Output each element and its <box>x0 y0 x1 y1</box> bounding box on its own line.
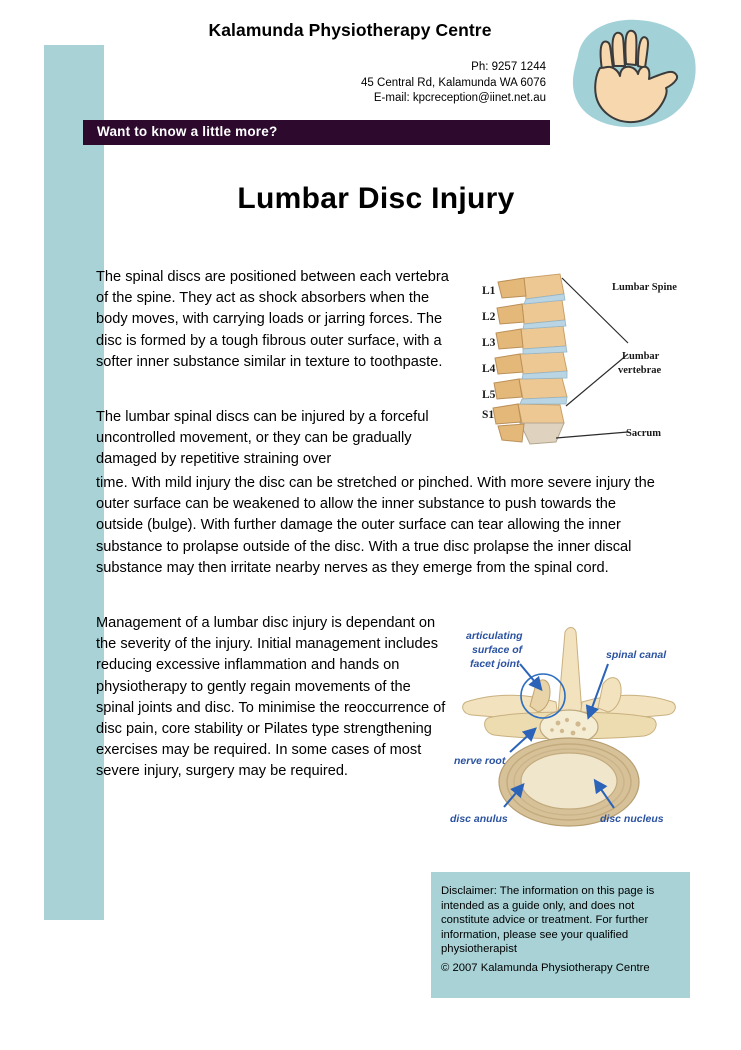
svg-text:Lumbar: Lumbar <box>622 351 660 362</box>
svg-text:Sacrum: Sacrum <box>626 428 661 439</box>
paragraph-injury-cont: time. With mild injury the disc can be s… <box>96 473 658 579</box>
vertebra-figure: articulating surface of facet joint spin… <box>448 622 690 830</box>
paragraph-management: Management of a lumbar disc injury is de… <box>96 613 448 783</box>
svg-text:L2: L2 <box>482 311 496 323</box>
email-line: E-mail: kpcreception@iinet.net.au <box>150 91 546 107</box>
svg-text:surface of: surface of <box>472 644 524 656</box>
svg-text:L3: L3 <box>482 337 496 349</box>
svg-text:S1: S1 <box>482 409 494 421</box>
svg-text:L1: L1 <box>482 285 496 297</box>
hand-logo <box>556 8 706 136</box>
banner-label: Want to know a little more? <box>97 124 277 139</box>
svg-text:L4: L4 <box>482 363 496 375</box>
spine-callout-labels: Lumbar Spine Lumbar vertebrae Sacrum <box>612 282 677 439</box>
copyright-text: © 2007 Kalamunda Physiotherapy Centre <box>441 962 685 974</box>
lumbar-spine-figure: L1 L2 L3 L4 L5 S1 Lumbar Spine Lumbar ve… <box>478 266 690 446</box>
section-banner: Want to know a little more? <box>83 120 550 145</box>
svg-text:L5: L5 <box>482 389 496 401</box>
lumbar-spine-image: L1 L2 L3 L4 L5 S1 Lumbar Spine Lumbar ve… <box>478 266 690 446</box>
svg-text:Lumbar Spine: Lumbar Spine <box>612 282 677 293</box>
contact-block: Ph: 9257 1244 45 Central Rd, Kalamunda W… <box>150 60 546 107</box>
svg-text:spinal canal: spinal canal <box>606 649 667 661</box>
svg-text:vertebrae: vertebrae <box>618 365 661 376</box>
disclaimer-text: Disclaimer: The information on this page… <box>441 884 681 957</box>
paragraph-injury-top: The lumbar spinal discs can be injured b… <box>96 407 458 471</box>
hand-logo-icon <box>556 8 706 136</box>
spine-leader-lines <box>556 278 628 438</box>
clinic-name: Kalamunda Physiotherapy Centre <box>150 20 550 41</box>
vertebra-cross-section-image: articulating surface of facet joint spin… <box>448 622 690 830</box>
spine-bones <box>493 274 567 444</box>
svg-text:facet joint: facet joint <box>470 658 520 670</box>
page-title: Lumbar Disc Injury <box>96 182 656 216</box>
address-line: 45 Central Rd, Kalamunda WA 6076 <box>150 76 546 92</box>
svg-text:disc anulus: disc anulus <box>450 813 508 825</box>
svg-text:disc nucleus: disc nucleus <box>600 813 664 825</box>
left-accent-bar <box>44 45 104 920</box>
svg-text:nerve root: nerve root <box>454 755 506 767</box>
svg-text:articulating: articulating <box>466 630 523 642</box>
disclaimer-box: Disclaimer: The information on this page… <box>431 872 690 998</box>
spine-level-labels: L1 L2 L3 L4 L5 S1 <box>482 285 496 421</box>
paragraph-intro: The spinal discs are positioned between … <box>96 267 458 373</box>
phone-line: Ph: 9257 1244 <box>150 60 546 76</box>
